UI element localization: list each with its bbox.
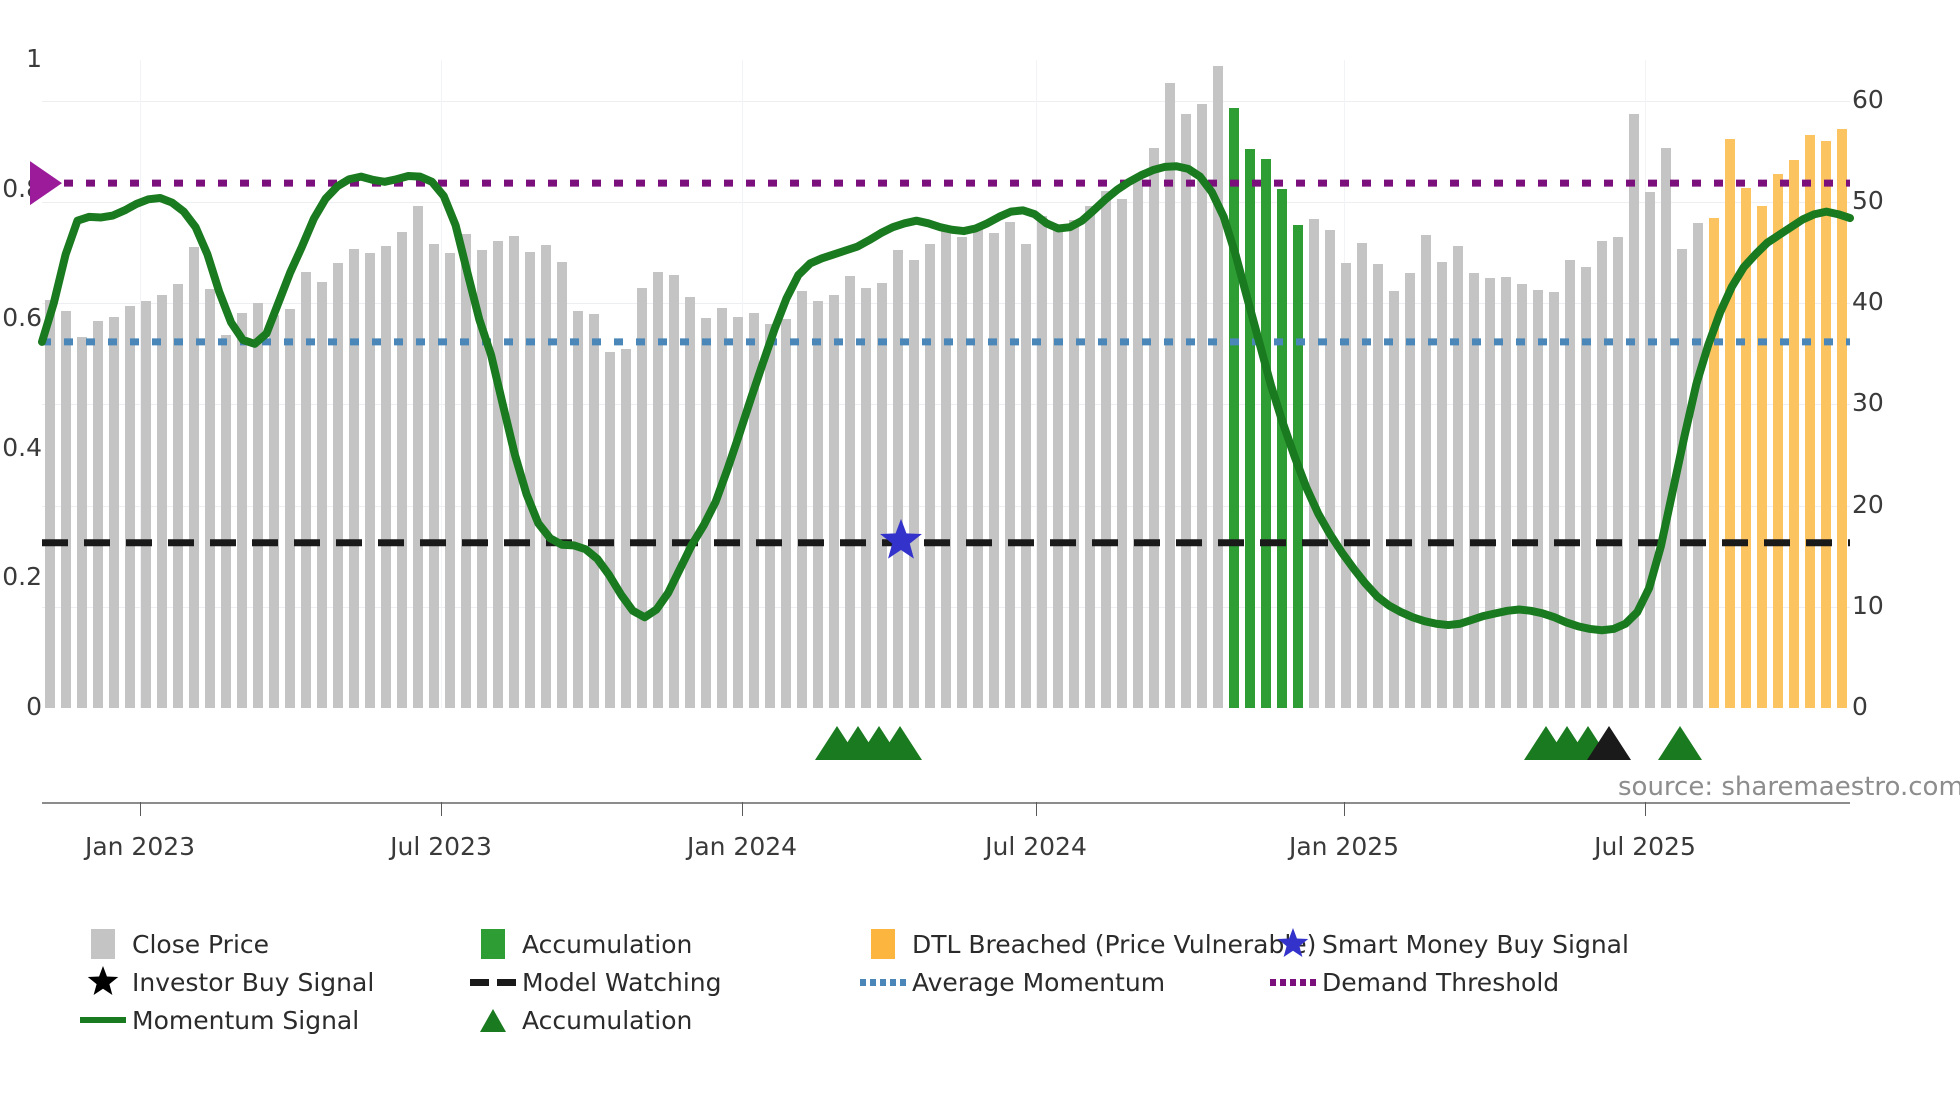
x-axis-tick-label: Jan 2024	[687, 832, 797, 861]
legend-item-label: Smart Money Buy Signal	[1322, 930, 1629, 959]
demand-threshold-start-marker-icon	[30, 161, 62, 205]
legend-item-accumulation[interactable]: Accumulation	[470, 925, 692, 963]
marker-band	[42, 708, 1850, 768]
legend-item-momentum-signal[interactable]: Momentum Signal	[80, 1001, 359, 1039]
legend-item-investor-buy-signal[interactable]: Investor Buy Signal	[80, 963, 374, 1001]
legend-item-dtl-breached-price-vulnerable[interactable]: DTL Breached (Price Vulnerable)	[860, 925, 1316, 963]
source-caption: source: sharemaestro.com	[1618, 772, 1960, 802]
close-price-swatch-shape	[91, 929, 115, 959]
legend-row: Investor Buy SignalModel WatchingAverage…	[80, 963, 1940, 1001]
x-tick-mark	[441, 802, 442, 816]
right-axis-tick-30: 30	[1852, 388, 1884, 417]
x-axis-tick-label: Jan 2025	[1289, 832, 1399, 861]
right-axis-tick-50: 50	[1852, 186, 1884, 215]
momentum-signal-line	[42, 166, 1850, 630]
right-axis-tick-40: 40	[1852, 287, 1884, 316]
right-axis-tick-20: 20	[1852, 490, 1884, 519]
close-price-swatch	[80, 925, 126, 963]
legend-item-accumulation[interactable]: Accumulation	[470, 1001, 692, 1039]
chart-legend: Close PriceAccumulationDTL Breached (Pri…	[80, 925, 1940, 1039]
x-tick-mark	[1344, 802, 1345, 816]
smart-money-star-icon-shape	[1276, 927, 1310, 961]
right-axis-tick-60: 60	[1852, 85, 1884, 114]
x-axis-tick-label: Jul 2024	[985, 832, 1087, 861]
legend-item-model-watching[interactable]: Model Watching	[470, 963, 722, 1001]
x-axis-tick-label: Jul 2025	[1594, 832, 1696, 861]
right-axis-tick-10: 10	[1852, 591, 1884, 620]
legend-item-smart-money-buy-signal[interactable]: Smart Money Buy Signal	[1270, 925, 1629, 963]
legend-item-label: DTL Breached (Price Vulnerable)	[912, 930, 1316, 959]
accumulation-triangle-icon	[1658, 726, 1702, 760]
right-axis-tick-0: 0	[1852, 692, 1868, 721]
legend-item-label: Close Price	[132, 930, 269, 959]
dtl-breached-swatch-shape	[871, 929, 895, 959]
chart-overlay	[42, 60, 1850, 708]
accumulation-triangle-icon	[470, 1001, 516, 1039]
x-tick-mark	[1036, 802, 1037, 816]
investor-buy-star-icon-shape	[86, 965, 120, 999]
legend-item-close-price[interactable]: Close Price	[80, 925, 269, 963]
left-axis-tick-0.6: 0.6	[2, 303, 42, 332]
model-watching-dash	[470, 963, 516, 1001]
dtl-breached-swatch	[860, 925, 906, 963]
smart-money-buy-star-icon	[880, 519, 922, 559]
legend-row: Momentum SignalAccumulation	[80, 1001, 1940, 1039]
left-axis-tick-0: 0	[26, 692, 42, 721]
x-axis-tick-label: Jan 2023	[85, 832, 195, 861]
model-watching-dash-shape	[470, 979, 516, 986]
x-tick-mark	[140, 802, 141, 816]
x-tick-mark	[742, 802, 743, 816]
left-axis-tick-1: 1	[26, 44, 42, 73]
plot-area	[42, 60, 1850, 708]
legend-item-label: Demand Threshold	[1322, 968, 1559, 997]
momentum-signal-line-shape	[80, 1017, 126, 1023]
legend-item-demand-threshold[interactable]: Demand Threshold	[1270, 963, 1559, 1001]
average-momentum-dots	[860, 963, 906, 1001]
demand-threshold-dots	[1270, 963, 1316, 1001]
legend-item-label: Investor Buy Signal	[132, 968, 374, 997]
legend-item-label: Average Momentum	[912, 968, 1165, 997]
legend-item-average-momentum[interactable]: Average Momentum	[860, 963, 1165, 1001]
accumulation-swatch	[470, 925, 516, 963]
x-axis-line	[42, 802, 1850, 804]
legend-item-label: Model Watching	[522, 968, 722, 997]
x-tick-mark	[1645, 802, 1646, 816]
demand-threshold-dots-shape	[1270, 979, 1316, 986]
legend-row: Close PriceAccumulationDTL Breached (Pri…	[80, 925, 1940, 963]
left-axis-tick-0.4: 0.4	[2, 433, 42, 462]
left-axis-tick-0.2: 0.2	[2, 562, 42, 591]
momentum-signal-line	[80, 1001, 126, 1039]
investor-buy-star-icon	[80, 963, 126, 1001]
accumulation-swatch-shape	[481, 929, 505, 959]
legend-item-label: Momentum Signal	[132, 1006, 359, 1035]
x-axis-tick-label: Jul 2023	[390, 832, 492, 861]
legend-item-label: Accumulation	[522, 1006, 692, 1035]
smart-money-star-icon	[1270, 925, 1316, 963]
legend-item-label: Accumulation	[522, 930, 692, 959]
marker-band-svg	[42, 708, 1850, 768]
accumulation-triangle-icon-shape	[477, 1005, 509, 1035]
average-momentum-dots-shape	[860, 979, 906, 986]
chart-root: 00.20.40.60.81 0102030405060 Jan 2023Jul…	[0, 0, 1960, 1102]
